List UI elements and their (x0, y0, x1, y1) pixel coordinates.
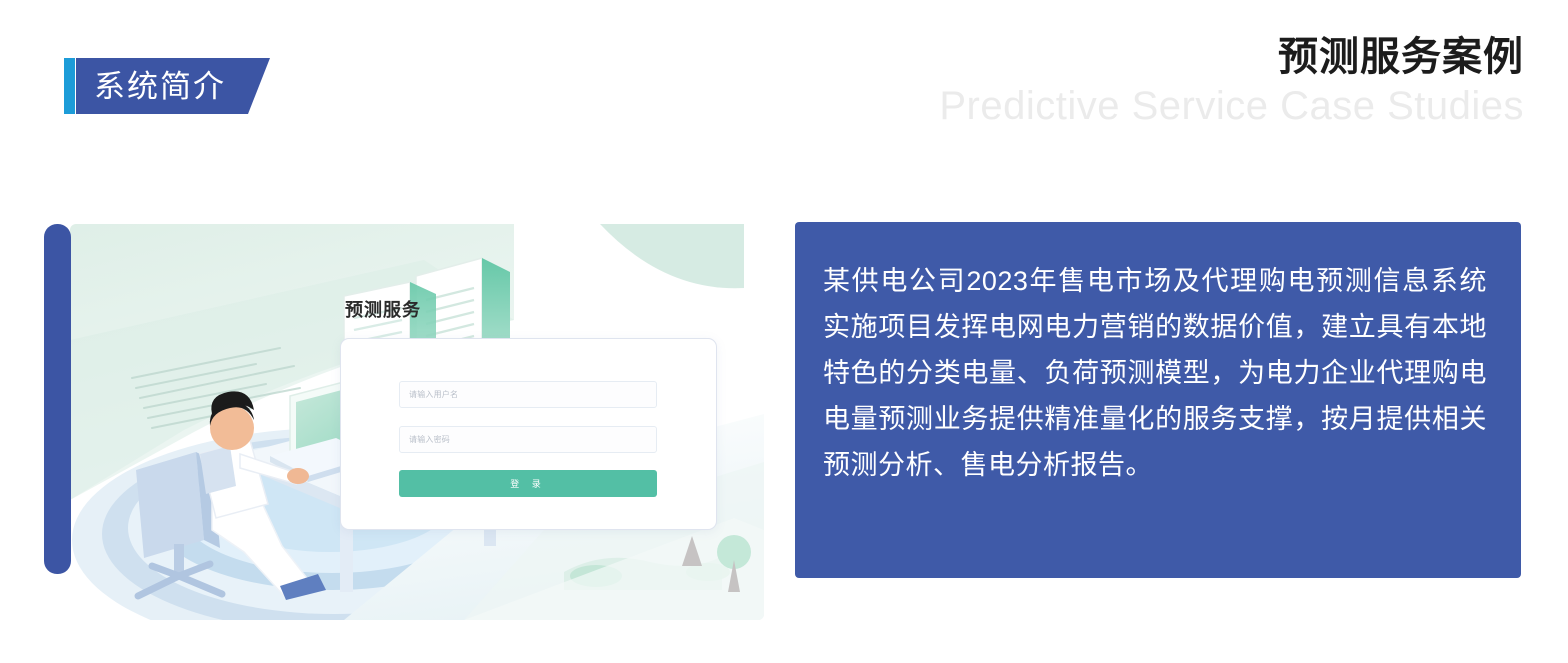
section-badge-label: 系统简介 (94, 71, 226, 102)
section-badge: 系统简介 (64, 58, 270, 114)
password-placeholder: 请输入密码 (409, 434, 450, 445)
description-text: 某供电公司2023年售电市场及代理购电预测信息系统实施项目发挥电网电力营销的数据… (823, 258, 1487, 488)
username-field[interactable]: 请输入用户名 (399, 381, 657, 408)
password-field[interactable]: 请输入密码 (399, 426, 657, 453)
section-badge-body: 系统简介 (76, 58, 270, 114)
username-placeholder: 请输入用户名 (409, 389, 458, 400)
description-panel: 某供电公司2023年售电市场及代理购电预测信息系统实施项目发挥电网电力营销的数据… (795, 222, 1521, 578)
page-header: 预测服务案例 Predictive Service Case Studies (939, 34, 1524, 130)
login-submit-button[interactable]: 登 录 (399, 470, 657, 497)
login-card: 请输入用户名 请输入密码 登 录 (340, 338, 717, 530)
page-subtitle: Predictive Service Case Studies (939, 83, 1524, 130)
page-title: 预测服务案例 (939, 34, 1524, 81)
section-badge-accent-bar (64, 58, 75, 114)
login-preview: 预测服务 请输入用户名 请输入密码 登 录 (340, 296, 720, 530)
login-heading: 预测服务 (345, 296, 720, 322)
illustration-block: 预测服务 请输入用户名 请输入密码 登 录 (44, 200, 764, 620)
illustration-accent-bar (44, 224, 71, 574)
